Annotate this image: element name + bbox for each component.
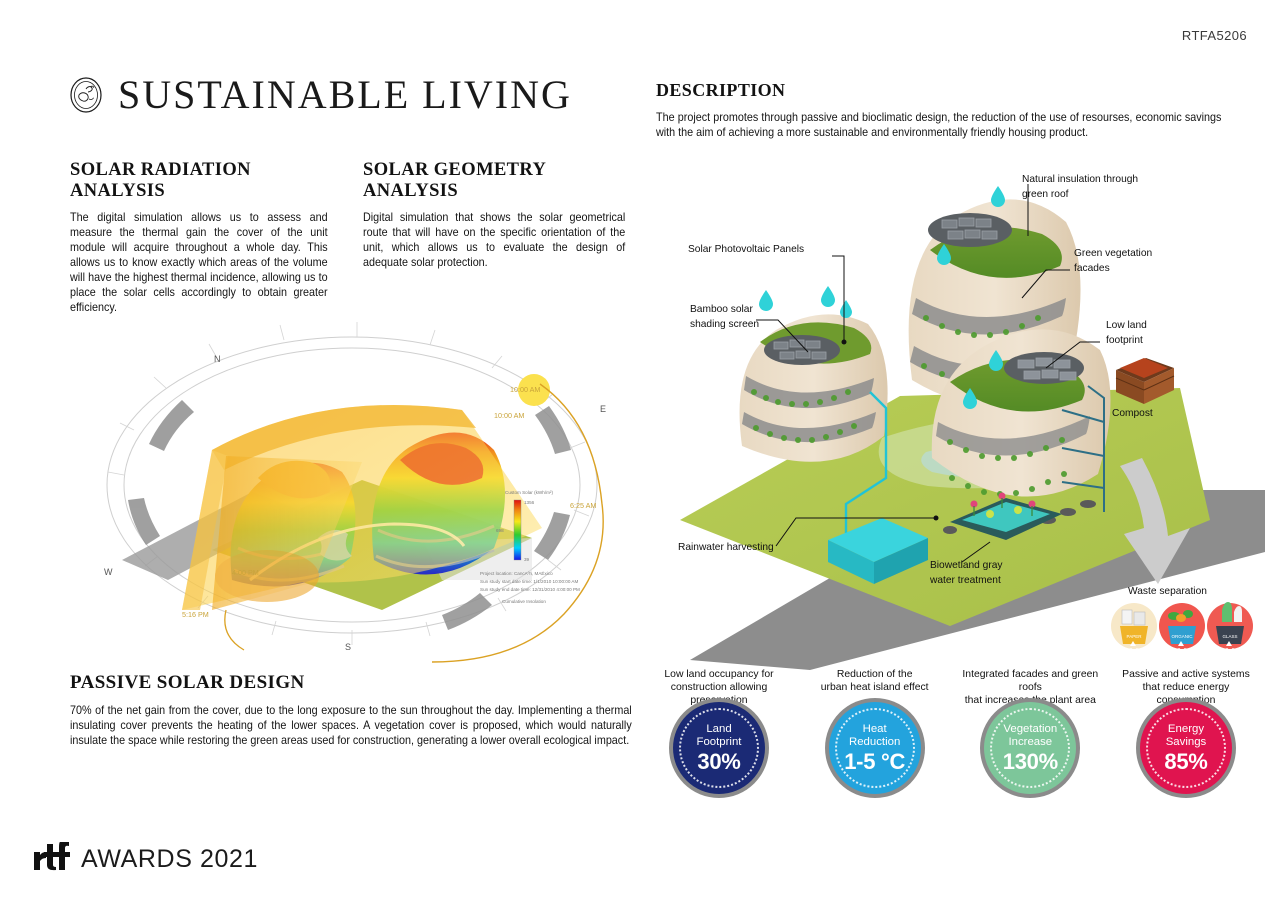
annotation-vegetation-line2: facades [1074, 263, 1110, 274]
sun-time-400pm: 4:00 PM [232, 568, 259, 577]
annotation-rainwater: Rainwater harvesting [678, 542, 774, 553]
annotation-biowetland-line2: water treatment [929, 575, 1001, 586]
passive-solar-block: PASSIVE SOLAR DESIGN 70% of the net gain… [70, 672, 632, 748]
metric-caption-heat-line2: urban heat island effect [821, 681, 929, 694]
description-text: The project promotes through passive and… [656, 110, 1221, 140]
metric-caption-land-line1: Low land occupancy for [645, 668, 793, 681]
leader-dot-pv [842, 340, 847, 345]
annotation-bamboo-line1: Bamboo solar [690, 304, 753, 315]
legend-project-location: Project location: CancAºn, MAÉxico [480, 570, 553, 576]
badge-vegetation-label1: Vegetation [1003, 723, 1057, 735]
waste-bin-paper: PAPER [1111, 603, 1157, 652]
metric-land-footprint: Low land occupancy for construction allo… [645, 668, 793, 808]
legend-title: Custom Solar (kWh/m²) [505, 490, 553, 495]
metrics-row: Low land occupancy for construction allo… [645, 668, 1260, 808]
badge-energy-value: 85% [1164, 750, 1207, 773]
svg-text:ORGANIC: ORGANIC [1171, 634, 1193, 639]
badge-energy-label: Energy Savings [1166, 723, 1207, 749]
board-title: SUSTAINABLE LIVING [118, 75, 572, 115]
metric-caption-energy-line1: Passive and active systems [1112, 668, 1260, 681]
annotation-insulation-line1: Natural insulation through [1022, 174, 1138, 185]
waste-bin-glass: GLASS [1207, 602, 1253, 652]
metric-caption-heat: Reduction of the urban heat island effec… [821, 668, 929, 696]
badge-energy-label2: Savings [1166, 736, 1207, 748]
annotation-insulation-line2: green roof [1022, 189, 1069, 200]
awards-label: AWARDS 2021 [81, 847, 258, 872]
metric-vegetation-increase: Integrated facades and green roofs that … [956, 668, 1104, 808]
leader-dot-rainwater [934, 516, 939, 521]
brand-lockup: SUSTAINABLE LIVING [66, 75, 572, 115]
passive-solar-text: 70% of the net gain from the cover, due … [70, 703, 632, 748]
compass-label-s: S [345, 642, 351, 652]
compass-label-n: N [214, 354, 221, 364]
annotation-bamboo-line2: shading screen [690, 319, 759, 330]
legend-colorbar [514, 500, 521, 560]
solar-geometry-text: Digital simulation that shows the solar … [363, 210, 625, 270]
badge-land-label1: Land [706, 723, 731, 735]
waste-bin-organic: ORGANIC [1159, 603, 1205, 652]
description-heading: DESCRIPTION [656, 80, 1221, 101]
badge-energy-label1: Energy [1168, 723, 1204, 735]
badge-land-label: Land Footprint [697, 723, 742, 749]
badge-land-label2: Footprint [697, 736, 742, 748]
metric-heat-reduction: Reduction of the urban heat island effec… [801, 668, 949, 808]
badge-vegetation-label: Vegetation Increase [1003, 723, 1057, 749]
svg-text:GLASS: GLASS [1222, 634, 1237, 639]
footer: AWARDS 2021 [32, 840, 258, 872]
badge-heat-label1: Heat [863, 723, 887, 735]
tower-left [740, 314, 888, 461]
annotation-waste-separation: Waste separation [1128, 586, 1207, 597]
metric-caption-land: Low land occupancy for construction allo… [645, 668, 793, 696]
badge-vegetation-value: 130% [1003, 750, 1058, 773]
badge-heat-reduction[interactable]: Heat Reduction 1-5 °C [829, 702, 921, 794]
annotation-solar-pv-panels: Solar Photovoltaic Panels [688, 244, 804, 255]
waste-bin-group: PAPER ORGANIC GLASS [1111, 602, 1253, 652]
solar-geometry-block: SOLAR GEOMETRY ANALYSIS Digital simulati… [363, 160, 625, 270]
metric-energy-savings: Passive and active systems that reduce e… [1112, 668, 1260, 808]
badge-vegetation-label2: Increase [1008, 736, 1052, 748]
sun-path-arc-tail [225, 610, 244, 650]
rtf-logo-icon [32, 840, 72, 872]
badge-heat-label: Heat Reduction [849, 723, 900, 749]
sun-time-516pm: 5:16 PM [182, 610, 209, 619]
legend-end-time: Sun study end date time: 12/31/2010 4:00… [480, 587, 580, 592]
sun-time-1000am-lower: 10:00 AM [494, 411, 524, 420]
metric-caption-energy: Passive and active systems that reduce e… [1112, 668, 1260, 696]
compass-label-e: E [600, 404, 606, 414]
legend-mid: 698 [496, 528, 504, 533]
metric-caption-vegetation: Integrated facades and green roofs that … [956, 668, 1104, 696]
presentation-board: RTFA5206 SUSTAINABLE LIVING DESCRIPTION … [0, 0, 1273, 900]
solar-panel-array-left [764, 335, 840, 365]
solar-radiation-heading: SOLAR RADIATION ANALYSIS [70, 160, 328, 202]
solar-simulation-graphic: N E S W [62, 280, 642, 670]
annotation-vegetation-line1: Green vegetation [1074, 248, 1152, 259]
metric-caption-heat-line1: Reduction of the [821, 668, 929, 681]
legend-start-time: Sun study start date time: 1/1/2010 10:0… [480, 579, 578, 584]
legend-max: 1356 [524, 500, 535, 505]
annotation-lowland-line2: footprint [1106, 335, 1143, 346]
description-block: DESCRIPTION The project promotes through… [656, 80, 1221, 140]
badge-heat-value: 1-5 °C [844, 750, 905, 773]
isometric-diagram: PAPER ORGANIC GLASS [650, 160, 1265, 670]
badge-land-value: 30% [697, 750, 740, 773]
legend-min: 39 [524, 557, 530, 562]
badge-vegetation-increase[interactable]: Vegetation Increase 130% [984, 702, 1076, 794]
compass-label-w: W [104, 567, 113, 577]
sun-time-625am: 6:25 AM [570, 501, 596, 510]
badge-heat-label2: Reduction [849, 736, 900, 748]
badge-energy-savings[interactable]: Energy Savings 85% [1140, 702, 1232, 794]
reference-code: RTFA5206 [1182, 28, 1247, 43]
sun-time-1000am-upper: 10:00 AM [510, 385, 540, 394]
annotation-biowetland-line1: Biowetland gray [930, 560, 1003, 571]
globe-leaf-emblem-icon [66, 75, 106, 115]
annotation-compost: Compost [1112, 408, 1153, 419]
metric-caption-vegetation-line1: Integrated facades and green roofs [956, 668, 1104, 694]
svg-text:PAPER: PAPER [1127, 634, 1143, 639]
badge-land-footprint[interactable]: Land Footprint 30% [673, 702, 765, 794]
passive-solar-heading: PASSIVE SOLAR DESIGN [70, 672, 632, 694]
legend-mode: Cumulative Insolation [502, 599, 546, 604]
solar-geometry-heading: SOLAR GEOMETRY ANALYSIS [363, 160, 625, 202]
annotation-lowland-line1: Low land [1106, 320, 1147, 331]
